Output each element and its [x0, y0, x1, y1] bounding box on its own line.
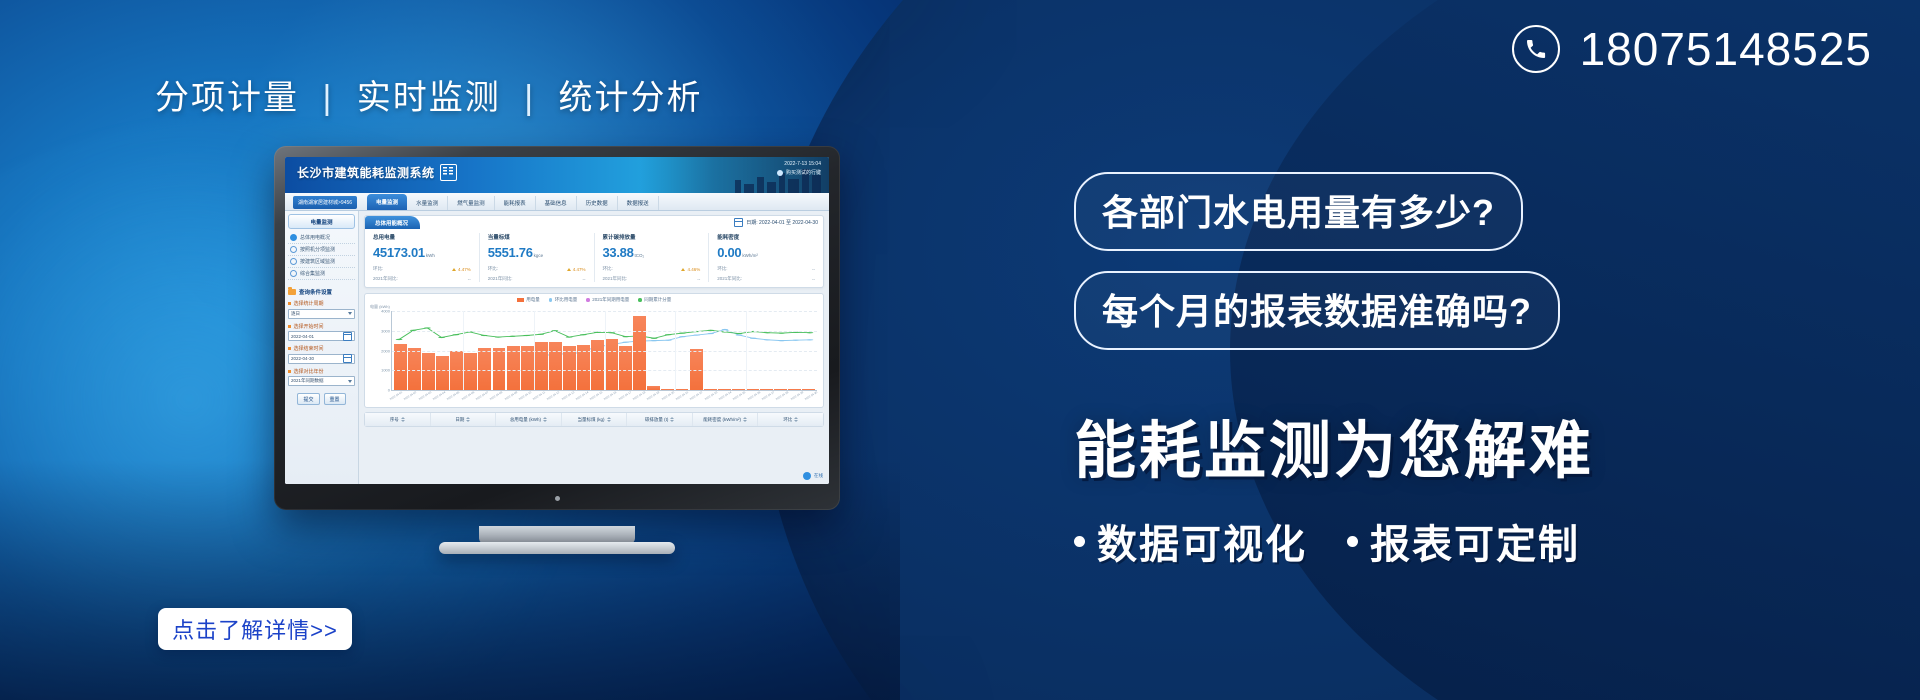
sidebar-item-sub-item[interactable]: 按照机分项监测 — [288, 244, 355, 256]
sort-arrows-icon[interactable] — [466, 417, 470, 422]
filter-label-text: 选择开始时间 — [294, 323, 324, 330]
kpi-value: 45173.01 — [373, 245, 425, 260]
detail-table-header: 序号日期总用电量 (kWh)当量标煤 (kg)碳排放量 (t)能耗密度 (kWh… — [365, 413, 823, 426]
kpi-unit: kWh — [426, 253, 435, 258]
sidebar-item-zone[interactable]: 按建筑区域监测 — [288, 256, 355, 268]
filter-actions: 提交 重置 — [288, 393, 355, 405]
kpi-yoy-label: 2021年同比: — [488, 276, 513, 282]
chart-canvas: 01000200030004000 — [391, 311, 817, 391]
filter-value: 2022-04-01 — [291, 334, 314, 339]
app-title: 长沙市建筑能耗监测系统 — [297, 164, 457, 181]
chart-legend: 用电量 环比用电量 2021年同期用电量 — [369, 297, 819, 303]
headline: 能耗监测为您解难 — [1074, 400, 1874, 490]
chart-bar[interactable] — [633, 316, 646, 390]
phone-number: 18075148525 — [1580, 22, 1872, 76]
kpi-name: 总用电量 — [373, 233, 471, 241]
table-column-label: 能耗密度 (kWh/m²) — [703, 417, 741, 423]
legend-item-2[interactable]: 2021年同期用电量 — [586, 297, 629, 303]
calendar-icon — [343, 354, 352, 363]
chart-bar[interactable] — [746, 389, 759, 390]
table-column-header[interactable]: 碳排放量 (t) — [627, 413, 693, 426]
kpi-yoy-label: 2021年同比: — [603, 276, 628, 282]
sidebar-item-label: 综合集监测 — [300, 270, 325, 277]
submit-button[interactable]: 提交 — [297, 393, 319, 405]
overview-panel: 总体用能概况 日期: 2022-04-01 至 2022-04-30 总用电量 … — [364, 215, 824, 288]
filter-value: 2022-04-30 — [291, 356, 314, 361]
monitor-stand-base — [439, 542, 675, 554]
table-column-label: 序号 — [390, 417, 399, 423]
filter-panel-title: 查询条件设置 — [299, 288, 332, 296]
user-avatar-icon — [777, 170, 783, 176]
filter-input-start-date[interactable]: 2022-04-01 — [288, 331, 355, 341]
kpi-yoy-row: 2021年同比: -- — [488, 276, 586, 282]
table-column-header[interactable]: 日期 — [431, 413, 497, 426]
nav-tab-electricity[interactable]: 电量监测 — [367, 194, 407, 210]
sort-arrows-icon[interactable] — [794, 417, 798, 422]
kpi-value: 5551.76 — [488, 245, 533, 260]
kpi-yoy-row: 2021年同比: -- — [717, 276, 815, 282]
overview-date-range-text: 日期: 2022-04-01 至 2022-04-30 — [746, 219, 818, 226]
chevron-down-icon — [348, 312, 352, 315]
chart-bar[interactable] — [408, 348, 421, 390]
monitor-screen: 长沙市建筑能耗监测系统 2022-7-13 15:04 购买测试的行键 湖南湖家… — [285, 157, 829, 484]
chart-y-tick: 4000 — [372, 309, 390, 314]
chart-bar[interactable] — [422, 353, 435, 390]
radio-icon — [290, 270, 297, 277]
sidebar-item-label: 总体用电概况 — [300, 234, 330, 241]
kpi-compare-value: 4.47% — [573, 267, 586, 272]
kpi-value-wrap: 45173.01kWh — [373, 244, 471, 262]
square-bullet-icon — [288, 347, 291, 350]
overview-panel-title: 总体用能概况 — [365, 216, 420, 229]
table-column-header[interactable]: 能耗密度 (kWh/m²) — [693, 413, 759, 426]
kpi-compare-row: 环比: 4.47% — [488, 266, 586, 272]
kpi-yoy-value: -- — [697, 277, 700, 282]
sidebar-item-label: 按照机分项监测 — [300, 246, 335, 253]
legend-label: 用电量 — [526, 297, 540, 303]
legend-swatch-line-icon — [586, 298, 590, 302]
kpi-compare-label: 环比: — [373, 266, 383, 272]
chevron-down-icon — [348, 380, 352, 383]
kpi-compare-row: 环比: 4.46% — [603, 266, 701, 272]
kpi-yoy-value: -- — [812, 277, 815, 282]
kpi-compare-value: -- — [812, 267, 815, 272]
kpi-compare-value-wrap: 4.47% — [452, 267, 471, 272]
table-column-label: 环比 — [783, 417, 792, 423]
kpi-compare-value: 4.47% — [458, 267, 471, 272]
app-user[interactable]: 购买测试的行键 — [777, 169, 821, 178]
legend-item-1[interactable]: 环比用电量 — [549, 297, 578, 303]
question-pill-2: 每个月的报表数据准确吗? — [1074, 271, 1560, 350]
kpi-unit: tCO₂ — [635, 253, 645, 258]
tagline-sep-1: | — [524, 79, 535, 118]
chart-bar[interactable] — [802, 389, 815, 390]
kpi-compare-label: 环比: — [603, 266, 613, 272]
tagline: 分项计量 | 实时监测 | 统计分析 — [155, 70, 703, 119]
chart-bar[interactable] — [788, 389, 801, 390]
table-column-label: 碳排放量 (t) — [645, 417, 669, 423]
filter-label-compare-year: 选择对比年份 — [288, 368, 355, 375]
chart-plot-area: 电量 (kWh) 01000200030004000 2022-04-01202… — [369, 305, 819, 405]
table-column-label: 当量标煤 (kg) — [578, 417, 605, 423]
chart-bar[interactable] — [493, 348, 506, 390]
online-status-badge: 在线 — [803, 472, 823, 480]
chart-y-tick: 0 — [372, 388, 390, 393]
kpi-yoy-value: -- — [583, 277, 586, 282]
app-navbar: 湖南湖家居建材城>9456 电量监测 水量监测 燃气量监测 能耗报表 基础信息 … — [285, 193, 829, 211]
legend-item-3[interactable]: 同期累计分量 — [638, 297, 671, 303]
filter-value: 逐日 — [291, 311, 300, 317]
triangle-up-icon — [452, 268, 456, 271]
chart-vgridline — [675, 311, 676, 390]
monitor-mockup: 长沙市建筑能耗监测系统 2022-7-13 15:04 购买测试的行键 湖南湖家… — [274, 146, 840, 510]
filter-label-period: 选择统计周期 — [288, 300, 355, 307]
legend-label: 环比用电量 — [555, 297, 578, 303]
tagline-item-0: 分项计量 — [155, 79, 299, 117]
feature-item-0: 数据可视化 — [1074, 512, 1307, 570]
sidebar-item-label: 按建筑区域监测 — [300, 258, 335, 265]
kpi-card-total-electricity: 总用电量 45173.01kWh 环比: 4.47% — [365, 233, 480, 282]
chart-y-tick: 3000 — [372, 328, 390, 333]
chart-bar[interactable] — [478, 348, 491, 390]
feature-item-1: 报表可定制 — [1347, 512, 1580, 570]
sidebar-item-overall[interactable]: 总体用电概况 — [288, 232, 355, 244]
kpi-unit: kgce — [534, 253, 544, 258]
app-user-name: 购买测试的行键 — [786, 169, 821, 178]
chart-x-axis-ticks: 2022-04-012022-04-022022-04-032022-04-04… — [391, 393, 817, 405]
cta-button[interactable]: 点击了解详情>> — [158, 608, 352, 650]
sort-arrows-icon[interactable] — [401, 417, 405, 422]
square-bullet-icon — [288, 325, 291, 328]
nav-tab-basic-info[interactable]: 基础信息 — [536, 196, 577, 210]
promo-banner: 分项计量 | 实时监测 | 统计分析 18075148525 各部门水电用量有多… — [0, 0, 1920, 700]
table-column-header[interactable]: 序号 — [365, 413, 431, 426]
kpi-compare-label: 环比: — [488, 266, 498, 272]
nav-tabs: 电量监测 水量监测 燃气量监测 能耗报表 基础信息 历史数据 数据报送 — [367, 194, 659, 210]
radio-icon — [290, 246, 297, 253]
filter-value: 2021年同期数据 — [291, 378, 324, 384]
kpi-value-wrap: 0.00kWh/m² — [717, 244, 815, 262]
kpi-name: 当量标煤 — [488, 233, 586, 241]
question-pill-1: 各部门水电用量有多少? — [1074, 172, 1523, 251]
building-logo-icon — [440, 164, 457, 181]
app-timestamp: 2022-7-13 15:04 — [777, 160, 821, 169]
chart-vgridline — [746, 311, 747, 390]
square-bullet-icon — [288, 370, 291, 373]
nav-tab-data-submit[interactable]: 数据报送 — [618, 196, 659, 210]
sort-arrows-icon[interactable] — [543, 417, 547, 422]
filter-select-period[interactable]: 逐日 — [288, 309, 355, 319]
chart-vgridline — [605, 311, 606, 390]
table-column-label: 日期 — [455, 417, 464, 423]
filter-label-text: 选择统计周期 — [294, 300, 324, 307]
chart-bar[interactable] — [605, 339, 618, 390]
kpi-value-wrap: 5551.76kgce — [488, 244, 586, 262]
tagline-sep-0: | — [322, 79, 333, 118]
triangle-up-icon — [681, 268, 685, 271]
kpi-name: 累计碳排放量 — [603, 233, 701, 241]
chart-bar[interactable] — [507, 346, 520, 390]
chart-bar[interactable] — [436, 356, 449, 390]
sort-arrows-icon[interactable] — [607, 417, 611, 422]
feature-label-1: 报表可定制 — [1370, 512, 1580, 570]
filter-label-end: 选择结束时间 — [288, 345, 355, 352]
filter-panel-header: 查询条件设置 — [288, 288, 355, 296]
reset-button[interactable]: 重置 — [324, 393, 346, 405]
table-column-header[interactable]: 当量标煤 (kg) — [562, 413, 628, 426]
kpi-value: 0.00 — [717, 245, 741, 260]
phone-contact[interactable]: 18075148525 — [1512, 22, 1872, 76]
radio-icon — [290, 234, 297, 241]
calendar-icon — [734, 218, 743, 227]
phone-circle-icon — [1512, 25, 1560, 73]
chart-bar[interactable] — [464, 353, 477, 390]
filter-label-text: 选择结束时间 — [294, 345, 324, 352]
kpi-yoy-row: 2021年同比: -- — [373, 276, 471, 282]
tagline-item-1: 实时监测 — [357, 79, 501, 117]
table-column-header[interactable]: 环比 — [758, 413, 823, 426]
chart-x-tick: 2022-04-30 — [804, 390, 822, 408]
sidebar-item-comprehensive[interactable]: 综合集监测 — [288, 268, 355, 280]
kpi-compare-row: 环比: 4.47% — [373, 266, 471, 272]
chart-bar[interactable] — [591, 340, 604, 390]
filter-label-start: 选择开始时间 — [288, 323, 355, 330]
chart-y-tick: 1000 — [372, 368, 390, 373]
kpi-value: 33.88 — [603, 245, 634, 260]
folder-icon — [288, 289, 296, 295]
app-body: 电量监测 总体用电概况 按照机分项监测 按建筑区域监测 — [285, 211, 829, 484]
kpi-compare-row: 环比: -- — [717, 266, 815, 272]
legend-swatch-line-icon — [549, 298, 553, 302]
kpi-yoy-row: 2021年同比: -- — [603, 276, 701, 282]
filter-select-compare-year[interactable]: 2021年同期数据 — [288, 376, 355, 386]
kpi-yoy-value: -- — [468, 277, 471, 282]
kpi-name: 能耗密度 — [717, 233, 815, 241]
legend-label: 同期累计分量 — [644, 297, 671, 303]
triangle-up-icon — [567, 268, 571, 271]
kpi-compare-value-wrap: 4.46% — [681, 267, 700, 272]
detail-table: 序号日期总用电量 (kWh)当量标煤 (kg)碳排放量 (t)能耗密度 (kWh… — [364, 412, 824, 427]
table-column-header[interactable]: 总用电量 (kWh) — [496, 413, 562, 426]
legend-swatch-bar-icon — [517, 298, 524, 302]
kpi-card-energy-density: 能耗密度 0.00kWh/m² 环比: -- 2021年同比: — [709, 233, 823, 282]
sidebar-header: 电量监测 — [288, 214, 355, 229]
bullet-dot-icon — [1074, 536, 1085, 547]
square-bullet-icon — [288, 302, 291, 305]
nav-tab-reports[interactable]: 能耗报表 — [495, 196, 536, 210]
chart-bar[interactable] — [563, 346, 576, 390]
kpi-yoy-label: 2021年同比: — [717, 276, 742, 282]
app-header: 长沙市建筑能耗监测系统 2022-7-13 15:04 购买测试的行键 — [285, 157, 829, 193]
app-main: 总体用能概况 日期: 2022-04-01 至 2022-04-30 总用电量 … — [359, 211, 829, 484]
app-title-text: 长沙市建筑能耗监测系统 — [297, 164, 435, 181]
chart-bar[interactable] — [521, 346, 534, 390]
nav-tab-history[interactable]: 历史数据 — [577, 196, 618, 210]
chart-bar[interactable] — [535, 342, 548, 390]
chart-bar[interactable] — [619, 346, 632, 390]
chart-y-tick: 2000 — [372, 348, 390, 353]
kpi-unit: kWh/m² — [742, 253, 758, 258]
bullet-dot-icon — [1347, 536, 1358, 547]
legend-swatch-line-icon — [638, 298, 642, 302]
kpi-compare-label: 环比: — [717, 266, 727, 272]
energy-chart-panel: 用电量 环比用电量 2021年同期用电量 — [364, 293, 824, 408]
table-column-label: 总用电量 (kWh) — [510, 417, 541, 423]
chart-bar[interactable] — [647, 386, 660, 390]
kpi-yoy-label: 2021年同比: — [373, 276, 398, 282]
sort-arrows-icon[interactable] — [670, 417, 674, 422]
app-header-right: 2022-7-13 15:04 购买测试的行键 — [777, 160, 821, 177]
nav-org-chip[interactable]: 湖南湖家居建材城>9456 — [293, 196, 357, 209]
legend-item-0[interactable]: 用电量 — [517, 297, 540, 303]
feature-list: 数据可视化 报表可定制 — [1074, 512, 1874, 570]
status-dot-icon — [803, 472, 811, 480]
legend-label: 2021年同期用电量 — [592, 297, 629, 303]
tagline-item-2: 统计分析 — [559, 79, 703, 117]
sort-arrows-icon[interactable] — [743, 417, 747, 422]
kpi-compare-value-wrap: 4.47% — [567, 267, 586, 272]
kpi-value-wrap: 33.88tCO₂ — [603, 244, 701, 262]
radio-icon — [290, 258, 297, 265]
chart-vgridline — [534, 311, 535, 390]
overview-date-range[interactable]: 日期: 2022-04-01 至 2022-04-30 — [734, 218, 818, 227]
filter-input-end-date[interactable]: 2022-04-30 — [288, 354, 355, 364]
right-copy-column: 各部门水电用量有多少? 每个月的报表数据准确吗? 能耗监测为您解难 数据可视化 … — [1074, 172, 1874, 570]
feature-label-0: 数据可视化 — [1097, 512, 1307, 570]
filter-label-text: 选择对比年份 — [294, 368, 324, 375]
online-status-label: 在线 — [814, 473, 823, 479]
calendar-icon — [343, 332, 352, 341]
nav-tab-gas[interactable]: 燃气量监测 — [448, 196, 495, 210]
app-sidebar: 电量监测 总体用电概况 按照机分项监测 按建筑区域监测 — [285, 211, 359, 484]
nav-tab-water[interactable]: 水量监测 — [407, 196, 448, 210]
kpi-card-carbon-emission: 累计碳排放量 33.88tCO₂ 环比: 4.46% — [595, 233, 710, 282]
kpi-card-standard-coal: 当量标煤 5551.76kgce 环比: 4.47% — [480, 233, 595, 282]
kpi-compare-value: 4.46% — [687, 267, 700, 272]
chart-vgridline — [463, 311, 464, 390]
